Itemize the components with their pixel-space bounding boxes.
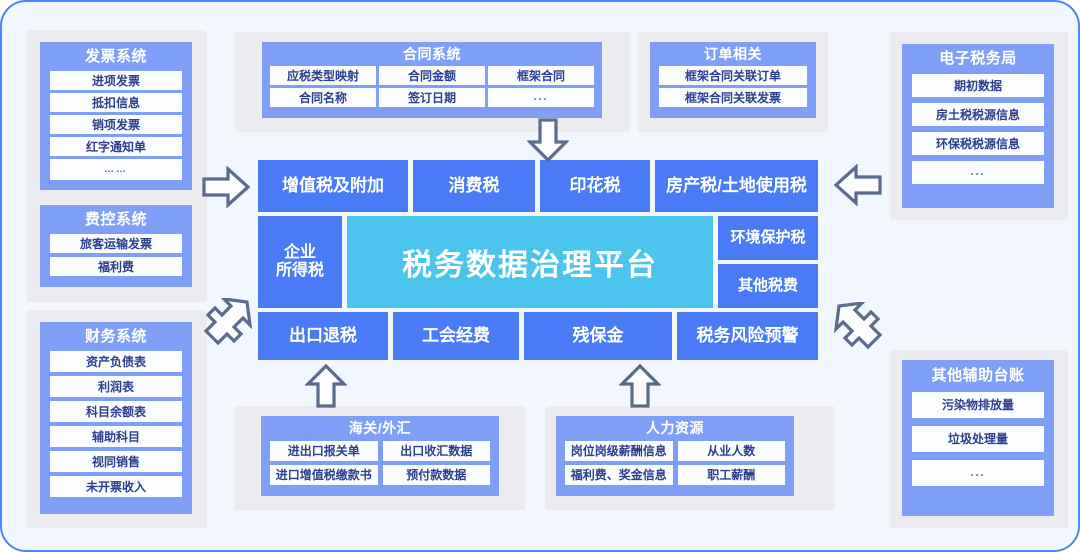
chip-etax-2[interactable]: 环保税税源信息 [912,132,1044,155]
group-finance-system[interactable]: 财务系统 资产负债表 利润表 科目余额表 辅助科目 视同销售 未开票收入 [40,322,192,514]
chip-etax-3[interactable]: ... [912,161,1044,184]
arrow-up-right-icon [202,298,252,348]
hr-row-1: 岗位岗级薪酬信息 从业人数 [565,441,785,461]
chip-hr-r1-1[interactable]: 从业人数 [678,441,786,461]
group-contract-system[interactable]: 合同系统 应税类型映射 合同金额 框架合同 合同名称 签订日期 ... [262,42,602,118]
chip-hr-r2-0[interactable]: 福利费、奖金信息 [565,465,673,485]
taxbox-consumption[interactable]: 消费税 [413,160,535,212]
arrow-right-icon [202,166,250,208]
chip-finance-5[interactable]: 未开票收入 [50,476,182,497]
chip-hr-r2-1[interactable]: 职工薪酬 [678,465,786,485]
taxbox-other-taxes[interactable]: 其他税费 [718,264,818,308]
group-invoice-system[interactable]: 发票系统 进项发票 抵扣信息 销项发票 红字通知单 …… [40,42,192,190]
taxbox-vat[interactable]: 增值税及附加 [258,160,408,212]
chip-contract-r2-2[interactable]: ... [488,88,594,107]
chip-hr-r1-0[interactable]: 岗位岗级薪酬信息 [565,441,673,461]
taxbox-disability-fund[interactable]: 残保金 [524,312,672,360]
group-other-ledger[interactable]: 其他辅助台账 污染物排放量 垃圾处理量 ... [902,360,1054,516]
chip-contract-r1-0[interactable]: 应税类型映射 [270,66,376,85]
chip-expense-0[interactable]: 旅客运输发票 [50,234,182,253]
arrow-up-left-bottom-icon [305,364,347,408]
taxbox-risk-warning[interactable]: 税务风险预警 [677,312,818,360]
group-etax-bureau[interactable]: 电子税务局 期初数据 房土税税源信息 环保税税源信息 ... [902,44,1054,208]
chip-finance-4[interactable]: 视同销售 [50,451,182,472]
taxbox-stamp[interactable]: 印花税 [540,160,650,212]
chip-customs-r2-1[interactable]: 预付款数据 [383,465,491,485]
group-title-hr: 人力资源 [565,421,785,435]
chip-invoice-1[interactable]: 抵扣信息 [50,93,182,112]
contract-row-1: 应税类型映射 合同金额 框架合同 [270,66,594,85]
chip-order-1[interactable]: 框架合同关联发票 [659,88,807,107]
chip-etax-0[interactable]: 期初数据 [912,74,1044,97]
contract-row-2: 合同名称 签订日期 ... [270,88,594,107]
chip-contract-r2-0[interactable]: 合同名称 [270,88,376,107]
group-title-etax: 电子税务局 [912,51,1044,66]
taxbox-environment-protection[interactable]: 环境保护税 [718,216,818,260]
chip-contract-r2-1[interactable]: 签订日期 [379,88,485,107]
chip-invoice-0[interactable]: 进项发票 [50,71,182,90]
chip-finance-2[interactable]: 科目余额表 [50,401,182,422]
group-expense-system[interactable]: 费控系统 旅客运输发票 福利费 [40,205,192,287]
chip-customs-r1-0[interactable]: 进出口报关单 [270,441,378,461]
arrow-up-left-icon [834,302,884,352]
group-title-other-ledger: 其他辅助台账 [912,368,1044,383]
arrow-up-right-bottom-icon [619,364,661,408]
platform-core-title: 税务数据治理平台 [347,216,713,308]
taxbox-corporate-income[interactable]: 企业 所得税 [258,216,342,308]
chip-invoice-2[interactable]: 销项发票 [50,115,182,134]
chip-ledger-0[interactable]: 污染物排放量 [912,392,1044,418]
group-title-finance: 财务系统 [50,329,182,344]
arrow-left-icon [834,164,882,206]
group-title-customs: 海关/外汇 [270,421,490,435]
taxbox-property-land[interactable]: 房产税/土地使用税 [655,160,818,212]
chip-ledger-2[interactable]: ... [912,460,1044,486]
chip-contract-r1-1[interactable]: 合同金额 [379,66,485,85]
group-human-resources[interactable]: 人力资源 岗位岗级薪酬信息 从业人数 福利费、奖金信息 职工薪酬 [556,416,794,496]
diagram-canvas: 发票系统 进项发票 抵扣信息 销项发票 红字通知单 …… 费控系统 旅客运输发票… [0,0,1080,552]
chip-finance-1[interactable]: 利润表 [50,376,182,397]
group-title-order: 订单相关 [659,47,807,61]
group-title-expense: 费控系统 [50,212,182,227]
chip-contract-r1-2[interactable]: 框架合同 [488,66,594,85]
chip-invoice-3[interactable]: 红字通知单 [50,137,182,156]
chip-finance-0[interactable]: 资产负债表 [50,351,182,372]
chip-finance-3[interactable]: 辅助科目 [50,426,182,447]
chip-expense-1[interactable]: 福利费 [50,257,182,276]
chip-customs-r1-1[interactable]: 出口收汇数据 [383,441,491,461]
group-title-invoice: 发票系统 [50,49,182,64]
group-customs-fx[interactable]: 海关/外汇 进出口报关单 出口收汇数据 进口增值税缴款书 预付款数据 [261,416,499,496]
chip-ledger-1[interactable]: 垃圾处理量 [912,426,1044,452]
chip-customs-r2-0[interactable]: 进口增值税缴款书 [270,465,378,485]
group-title-contract: 合同系统 [270,47,594,61]
chip-etax-1[interactable]: 房土税税源信息 [912,103,1044,126]
hr-row-2: 福利费、奖金信息 职工薪酬 [565,465,785,485]
chip-invoice-4[interactable]: …… [50,159,182,180]
taxbox-union-fund[interactable]: 工会经费 [393,312,519,360]
arrow-down-icon [527,118,569,162]
taxbox-export-refund[interactable]: 出口退税 [258,312,388,360]
group-order-related[interactable]: 订单相关 框架合同关联订单 框架合同关联发票 [650,42,816,118]
customs-row-2: 进口增值税缴款书 预付款数据 [270,465,490,485]
chip-order-0[interactable]: 框架合同关联订单 [659,66,807,85]
customs-row-1: 进出口报关单 出口收汇数据 [270,441,490,461]
